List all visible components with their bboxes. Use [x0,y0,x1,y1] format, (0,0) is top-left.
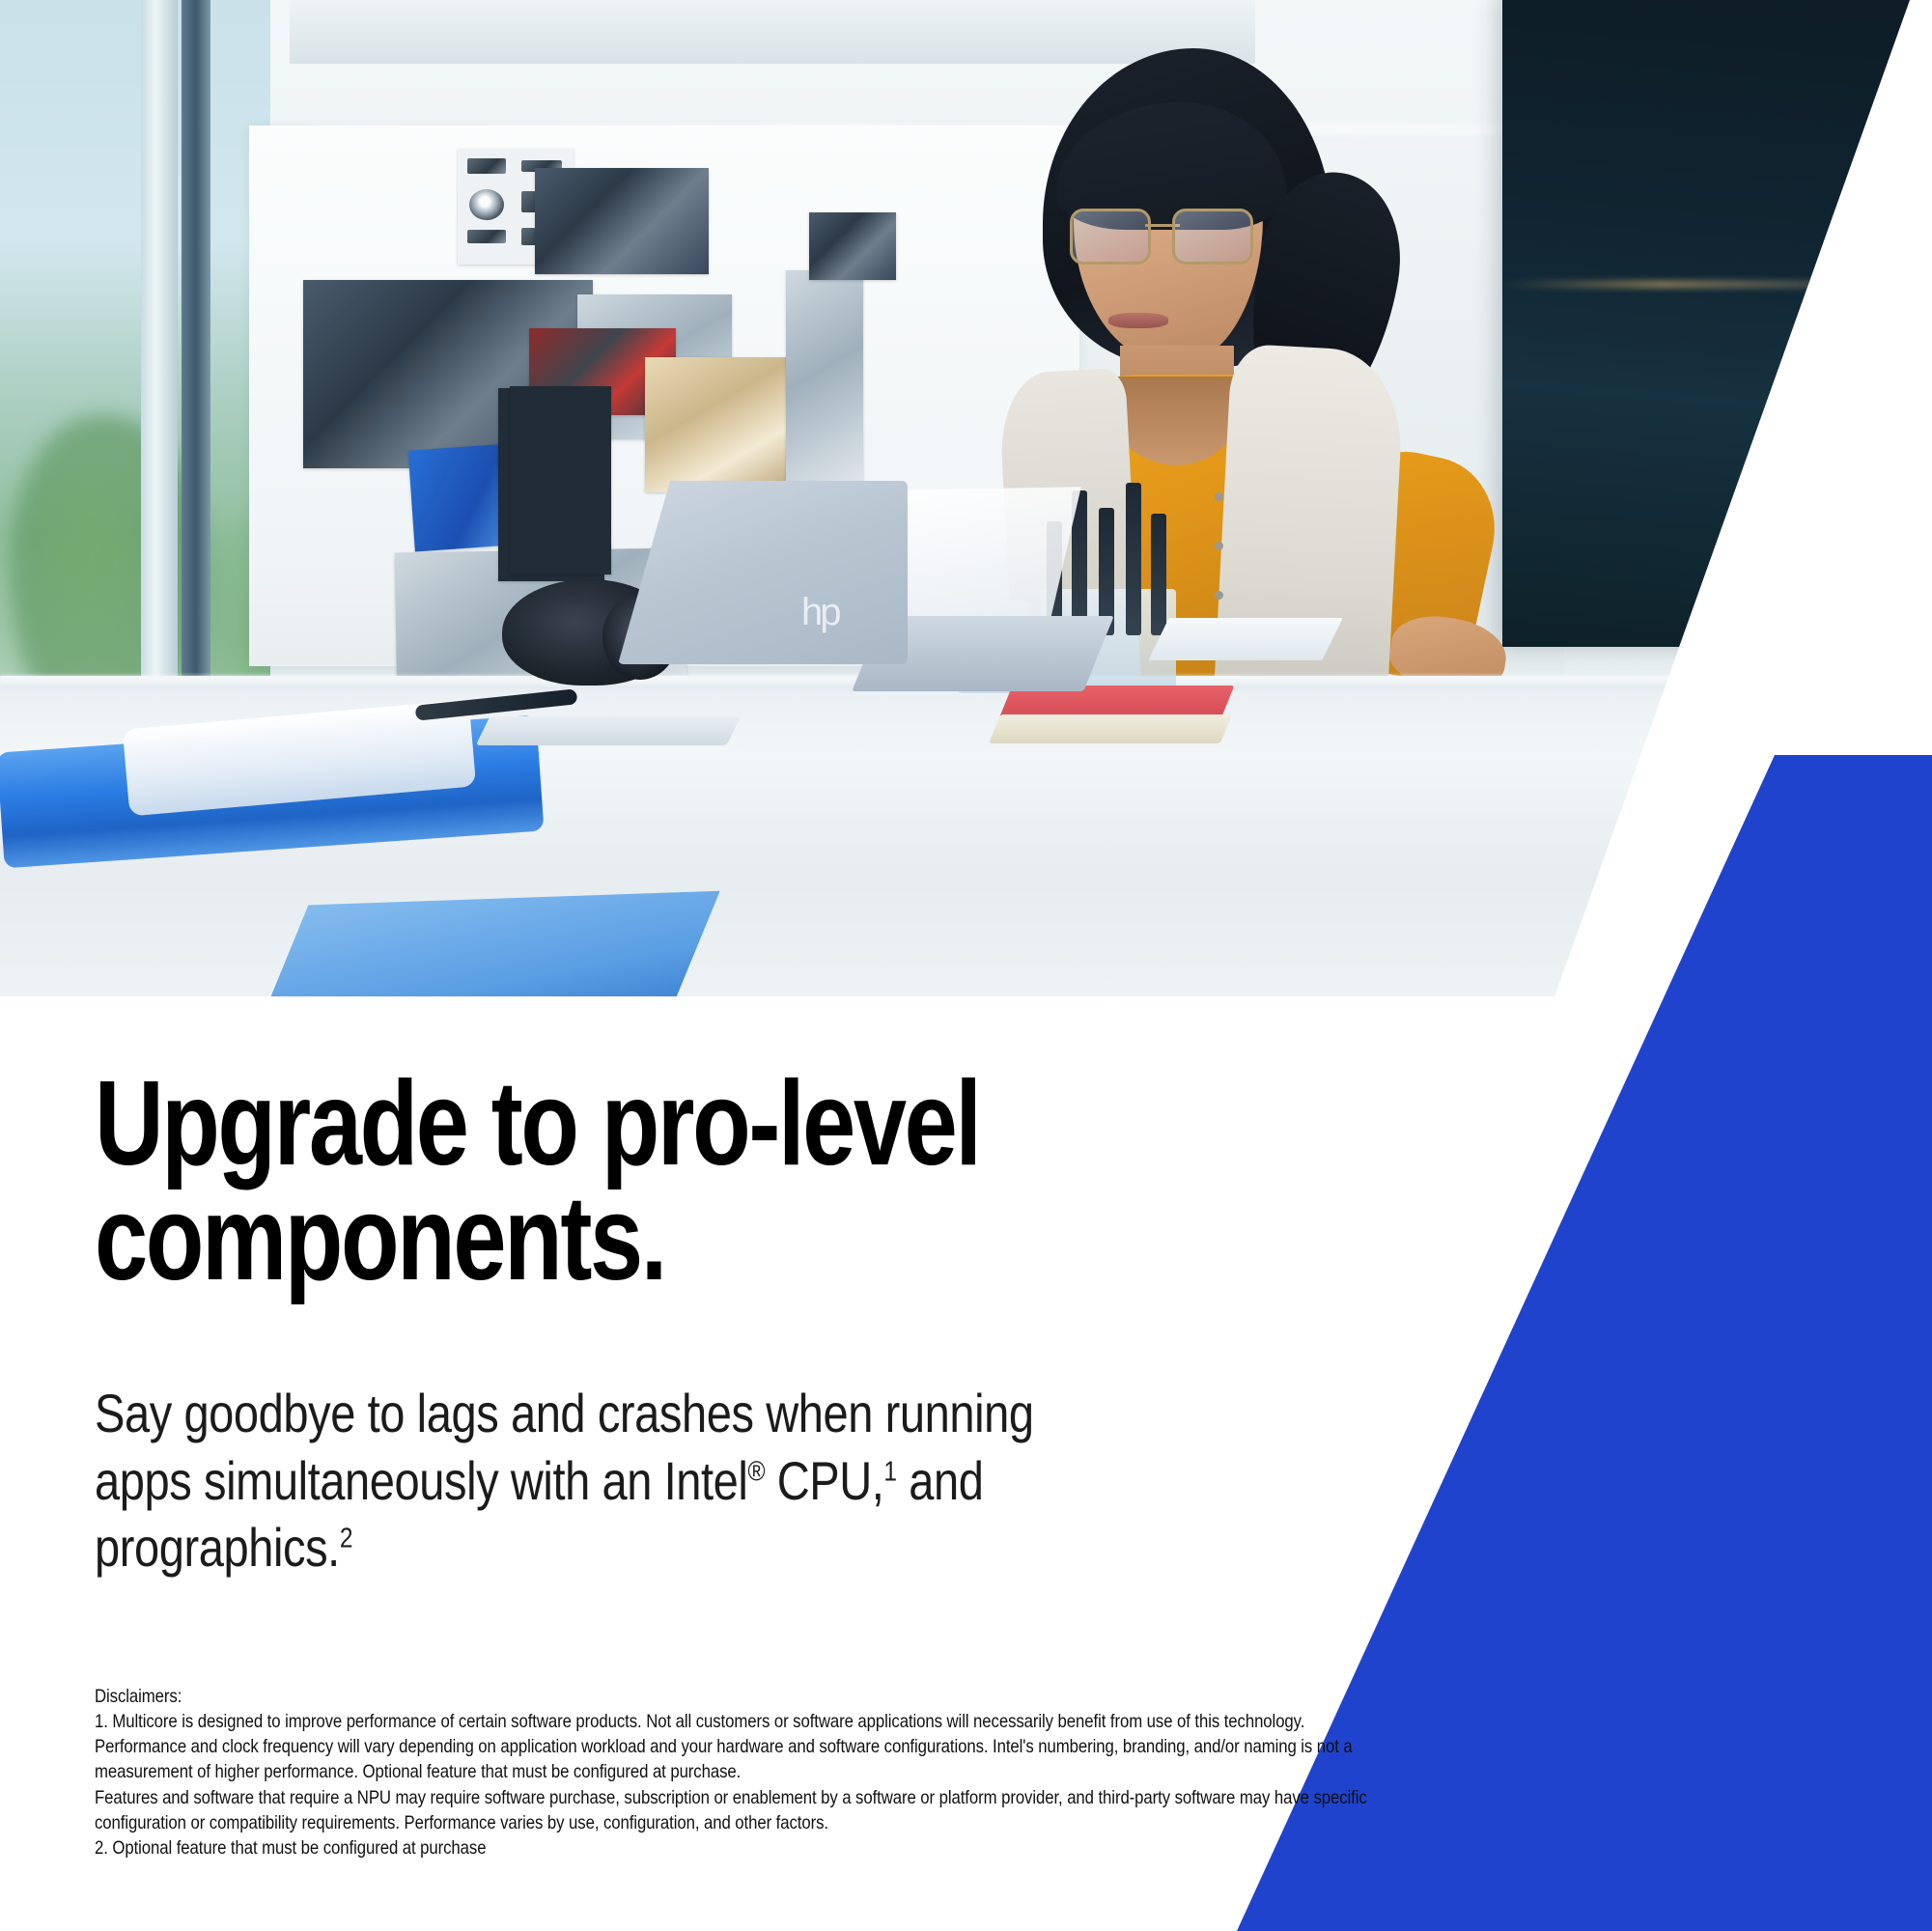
eyeglasses-icon [1070,209,1253,261]
disclaimer-item-1b: Features and software that require a NPU… [95,1785,1390,1835]
window-mullion [182,0,210,772]
footnote-ref-2: 2 [340,1523,352,1553]
hp-laptop: hp [618,481,1052,703]
keyboard [476,716,742,745]
marketing-slide: hp Upgrade to pro-level components. Say … [0,0,1932,1931]
registered-mark: ® [747,1456,765,1487]
blueprint-sheet [265,891,719,996]
subtitle-part-2: CPU, [765,1450,883,1511]
footnote-ref-1: 1 [883,1456,896,1487]
vest-right-panel [1213,344,1406,719]
paper-sheet [1148,618,1342,660]
hero-photo: hp [0,0,1932,996]
laptop-lid: hp [618,481,908,664]
disclaimer-item-2: 2. Optional feature that must be configu… [95,1835,1390,1861]
cream-notebook [989,714,1232,743]
lips [1108,313,1168,328]
page-title: Upgrade to pro-level components. [95,1067,1222,1297]
disclaimers-block: Disclaimers: 1. Multicore is designed to… [95,1684,1398,1861]
window-mullion [141,0,178,772]
subtitle-part-1: Say goodbye to lags and crashes when run… [95,1383,1034,1510]
moodboard-interior-sketch [645,357,790,492]
moodboard-sketch [535,168,709,274]
text-block: Upgrade to pro-level components. Say goo… [95,1067,1234,1581]
hp-logo: hp [801,593,839,631]
moodboard-wheel-sketch [510,386,611,574]
moodboard-sketch [786,270,863,492]
moodboard-sketch [809,212,896,280]
disclaimer-item-1: 1. Multicore is designed to improve perf… [95,1709,1390,1784]
page-subtitle: Say goodbye to lags and crashes when run… [95,1380,1141,1581]
disclaimers-heading: Disclaimers: [95,1684,1390,1709]
